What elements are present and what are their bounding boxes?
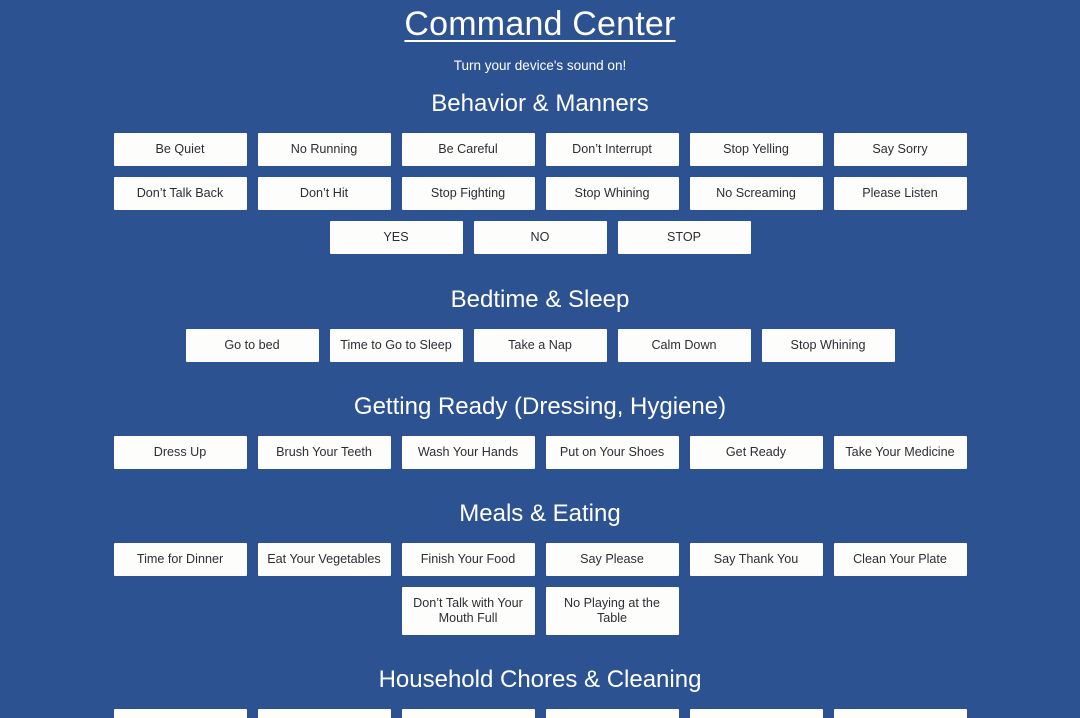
command-button-stop-yelling[interactable]: Stop Yelling bbox=[690, 133, 823, 166]
section-bedtime-sleep: Bedtime & SleepGo to bedTime to Go to Sl… bbox=[0, 285, 1080, 362]
command-button-time-for-dinner[interactable]: Time for Dinner bbox=[114, 543, 247, 576]
command-button-clean-up[interactable]: Clean Up bbox=[114, 709, 247, 718]
command-button-clean-your-room[interactable]: Clean Your Room bbox=[402, 709, 535, 718]
button-row: Dress UpBrush Your TeethWash Your HandsP… bbox=[108, 436, 972, 469]
command-button-dont-make-a-mess[interactable]: Don’t Make a Mess bbox=[834, 709, 967, 718]
button-row: Don’t Talk with Your Mouth FullNo Playin… bbox=[108, 587, 972, 635]
command-button-dress-up[interactable]: Dress Up bbox=[114, 436, 247, 469]
command-button-finish-your-food[interactable]: Finish Your Food bbox=[402, 543, 535, 576]
section-household-chores-cleaning: Household Chores & CleaningClean UpPick … bbox=[0, 665, 1080, 718]
button-row: Don’t Talk BackDon’t HitStop FightingSto… bbox=[108, 177, 972, 210]
section-meals-eating: Meals & EatingTime for DinnerEat Your Ve… bbox=[0, 499, 1080, 635]
command-button-take-a-nap[interactable]: Take a Nap bbox=[474, 329, 607, 362]
sections-container: Behavior & MannersBe QuietNo RunningBe C… bbox=[0, 89, 1080, 718]
command-button-no-playing-at-the-table[interactable]: No Playing at the Table bbox=[546, 587, 679, 635]
section-title: Behavior & Manners bbox=[0, 89, 1080, 119]
page-header: Command Center Turn your device's sound … bbox=[0, 4, 1080, 75]
section-getting-ready-dressing-hygiene: Getting Ready (Dressing, Hygiene)Dress U… bbox=[0, 392, 1080, 469]
section-spacer bbox=[0, 469, 1080, 499]
section-spacer bbox=[0, 254, 1080, 285]
command-button-stop-whining[interactable]: Stop Whining bbox=[546, 177, 679, 210]
command-button-clean-your-plate[interactable]: Clean Your Plate bbox=[834, 543, 967, 576]
command-button-yes[interactable]: YES bbox=[330, 221, 463, 254]
page-subtitle: Turn your device's sound on! bbox=[0, 57, 1080, 75]
command-button-say-thank-you[interactable]: Say Thank You bbox=[690, 543, 823, 576]
command-button-no-running[interactable]: No Running bbox=[258, 133, 391, 166]
command-button-eat-your-vegetables[interactable]: Eat Your Vegetables bbox=[258, 543, 391, 576]
command-button-dont-hit[interactable]: Don’t Hit bbox=[258, 177, 391, 210]
section-spacer bbox=[0, 362, 1080, 392]
command-button-be-quiet[interactable]: Be Quiet bbox=[114, 133, 247, 166]
command-button-no-screaming[interactable]: No Screaming bbox=[690, 177, 823, 210]
command-button-calm-down[interactable]: Calm Down bbox=[618, 329, 751, 362]
button-row: Time for DinnerEat Your VegetablesFinish… bbox=[108, 543, 972, 576]
command-button-be-careful[interactable]: Be Careful bbox=[402, 133, 535, 166]
page-title: Command Center bbox=[0, 4, 1080, 44]
command-button-pick-up-your-toys[interactable]: Pick Up Your Toys bbox=[258, 709, 391, 718]
command-button-please-listen[interactable]: Please Listen bbox=[834, 177, 967, 210]
command-button-stop-whining[interactable]: Stop Whining bbox=[762, 329, 895, 362]
section-title: Household Chores & Cleaning bbox=[0, 665, 1080, 695]
command-button-dont-talk-with-your-mouth-full[interactable]: Don’t Talk with Your Mouth Full bbox=[402, 587, 535, 635]
command-button-pick-up-after-yourself[interactable]: Pick Up After Yourself bbox=[690, 709, 823, 718]
section-title: Getting Ready (Dressing, Hygiene) bbox=[0, 392, 1080, 422]
command-center-page: Command Center Turn your device's sound … bbox=[0, 0, 1080, 718]
command-button-say-sorry[interactable]: Say Sorry bbox=[834, 133, 967, 166]
command-button-say-please[interactable]: Say Please bbox=[546, 543, 679, 576]
command-button-dont-talk-back[interactable]: Don’t Talk Back bbox=[114, 177, 247, 210]
command-button-dont-interrupt[interactable]: Don’t Interrupt bbox=[546, 133, 679, 166]
command-button-get-ready[interactable]: Get Ready bbox=[690, 436, 823, 469]
command-button-time-to-go-to-sleep[interactable]: Time to Go to Sleep bbox=[330, 329, 463, 362]
button-row: Be QuietNo RunningBe CarefulDon’t Interr… bbox=[108, 133, 972, 166]
command-button-wash-your-hands[interactable]: Wash Your Hands bbox=[402, 436, 535, 469]
section-title: Meals & Eating bbox=[0, 499, 1080, 529]
command-button-no[interactable]: NO bbox=[474, 221, 607, 254]
command-button-stop-fighting[interactable]: Stop Fighting bbox=[402, 177, 535, 210]
section-spacer bbox=[0, 635, 1080, 665]
command-button-stop[interactable]: STOP bbox=[618, 221, 751, 254]
section-title: Bedtime & Sleep bbox=[0, 285, 1080, 315]
command-button-take-your-medicine[interactable]: Take Your Medicine bbox=[834, 436, 967, 469]
command-button-brush-your-teeth[interactable]: Brush Your Teeth bbox=[258, 436, 391, 469]
command-button-put-on-your-shoes[interactable]: Put on Your Shoes bbox=[546, 436, 679, 469]
button-row: Go to bedTime to Go to SleepTake a NapCa… bbox=[108, 329, 972, 362]
button-row: YESNOSTOP bbox=[108, 221, 972, 254]
section-behavior-manners: Behavior & MannersBe QuietNo RunningBe C… bbox=[0, 89, 1080, 254]
command-button-go-to-bed[interactable]: Go to bed bbox=[186, 329, 319, 362]
button-row: Clean UpPick Up Your ToysClean Your Room… bbox=[108, 709, 972, 718]
command-button-finish-your-chores[interactable]: Finish Your Chores bbox=[546, 709, 679, 718]
